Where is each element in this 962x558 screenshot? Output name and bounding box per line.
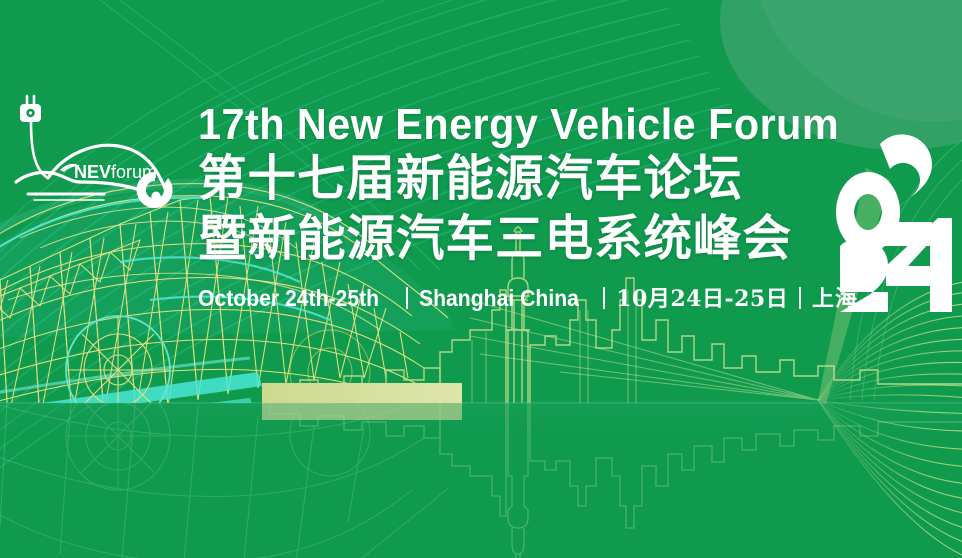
charging-cable [31, 122, 48, 178]
date-chinese: 10月24日-25日 [616, 281, 788, 313]
date-english: October 24th-25th [198, 285, 379, 312]
separator-3 [799, 287, 801, 309]
separator-2 [603, 287, 605, 309]
title-chinese-line1: 第十七届新能源汽车论坛 [198, 150, 851, 208]
city-english: Shanghai China [419, 285, 579, 312]
logo-wordmark-light: forum [111, 162, 157, 182]
event-details-line: October 24th-25th Shanghai China 10月24日-… [198, 281, 858, 313]
title-chinese-line2: 暨新能源汽车三电系统峰会 [198, 210, 851, 268]
year-digit-2-bottom [840, 238, 888, 312]
charging-plug-icon [27, 96, 34, 104]
year-badge-glyphs [834, 100, 960, 312]
logo-wordmark: NEVforum [74, 162, 157, 183]
event-poster: NEVforum 17th New Energy Vehicle Forum 第… [0, 0, 962, 558]
speed-underline [28, 194, 104, 200]
headline-block: 17th New Energy Vehicle Forum 第十七届新能源汽车论… [198, 100, 858, 313]
year-badge-2024 [834, 100, 960, 312]
title-english: 17th New Energy Vehicle Forum [198, 100, 818, 150]
pale-accent-bar [262, 383, 462, 420]
separator-1 [406, 287, 408, 309]
nevforum-logo[interactable]: NEVforum [8, 78, 188, 218]
nevforum-logo-mark [8, 78, 188, 218]
logo-wordmark-bold: NEV [74, 162, 111, 182]
